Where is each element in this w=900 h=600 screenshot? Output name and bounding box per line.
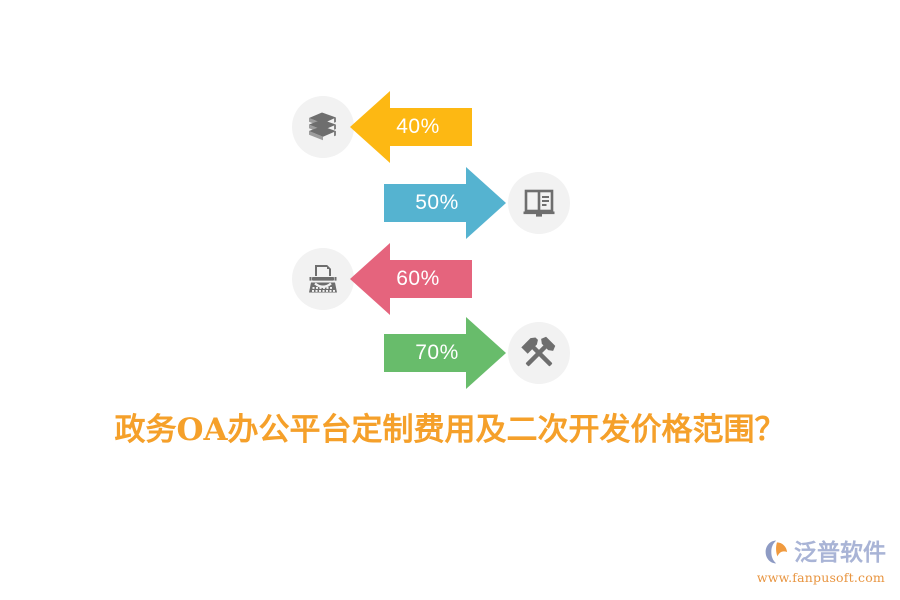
typewriter-icon xyxy=(292,248,354,310)
arrow-label-50: 50% xyxy=(384,164,506,242)
flow-row-3: 60% xyxy=(292,240,492,318)
logo-website-url: www.fanpusoft.com xyxy=(750,570,886,585)
crossed-hammers-icon xyxy=(508,322,570,384)
brand-logo[interactable]: 泛普软件 www.fanpusoft.com xyxy=(750,536,886,588)
flow-row-2: 50% xyxy=(384,164,584,242)
arrow-label-60: 60% xyxy=(350,240,472,318)
flow-row-1: 40% xyxy=(292,88,492,166)
arrow-label-40: 40% xyxy=(350,88,472,166)
arrow-50-percent: 50% xyxy=(384,164,506,242)
arrow-label-70: 70% xyxy=(384,314,506,392)
page-title: 政务OA办公平台定制费用及二次开发价格范围？ xyxy=(0,404,900,449)
arrow-40-percent: 40% xyxy=(350,88,472,166)
flow-row-4: 70% xyxy=(384,314,584,392)
arrow-60-percent: 60% xyxy=(350,240,472,318)
logo-company-name: 泛普软件 xyxy=(794,541,886,564)
flow-diagram: 40% 50% xyxy=(0,0,900,400)
fanpu-logo-mark xyxy=(763,538,791,566)
arrow-70-percent: 70% xyxy=(384,314,506,392)
books-stack-icon xyxy=(292,96,354,158)
infographic-canvas: 40% 50% xyxy=(0,0,900,600)
open-book-icon xyxy=(508,172,570,234)
